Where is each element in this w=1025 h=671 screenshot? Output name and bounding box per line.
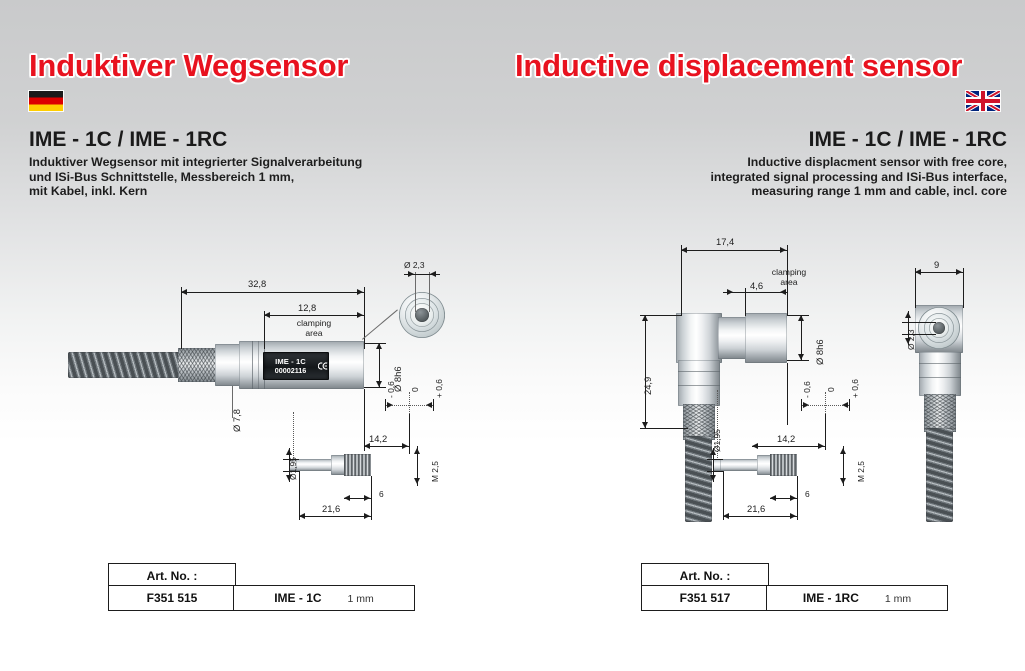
core-center-axis [293,412,294,460]
front-view-bore [415,308,429,322]
dim-clamping-length: 12,8 [298,302,316,313]
rc-dim-total-length: 17,4 [716,236,734,247]
rc-dim-line-216 [723,516,797,517]
rc-clamping-area-label: clampingarea [758,268,820,287]
ce-mark-icon [317,362,328,370]
rc-knurled-sleeve [683,404,715,440]
dim-core-length: 21,6 [322,503,340,514]
sensor-nameplate: IME - 1C 00002116 [263,352,329,380]
sensor-collar [215,344,241,386]
rc-dim-line-174 [681,250,787,251]
range-zero-axis [409,392,410,414]
rc-range-plus-label: + 0,6 [850,379,860,398]
rc-dim-core-offset: 14,2 [777,433,795,444]
cable-strain-relief [68,352,180,378]
headline-german: Induktiver Wegsensor [29,48,348,84]
ext-line-142-left [364,389,365,451]
ext-line-dia-bottom [364,387,386,388]
range-tick-plus [433,399,434,411]
dim-core-diameter: Ø1,95 [288,457,298,480]
table-range-label-de: 1 mm [348,593,374,605]
rc-range-zero-label: 0 [826,387,836,392]
table-cell-type-en[interactable]: IME - 1RC 1 mm [766,585,948,611]
dim-line-128 [264,315,364,316]
range-zero-label: 0 [410,387,420,392]
rc-dim-line-249 [645,315,646,428]
dim-bore-diameter: Ø 2,3 [404,260,424,270]
detail-leader-line [362,309,398,339]
dim-core-thread: M 2,5 [430,461,440,482]
description-english: Inductive displacment sensor with free c… [710,155,1007,199]
rc-range-zero-axis [825,392,826,414]
range-minus-label: - 0,6 [386,381,396,398]
table-type-label-en: IME - 1RC [803,591,859,605]
core-shoulder [331,455,345,475]
nameplate-model: IME - 1C [275,358,306,366]
model-code-english: IME - 1C / IME - 1RC [809,128,1007,152]
side-dim-width: 9 [934,259,939,270]
headline-english: Inductive displacement sensor [515,48,962,84]
ext-line-142-right [409,414,410,454]
housing-groove-2 [258,341,259,389]
rc-groove-1 [678,371,720,372]
side-view-neck [919,352,961,396]
description-german: Induktiver Wegsensor mit integrierter Si… [29,155,362,199]
flag-germany-icon [29,91,63,111]
ext-line-dia-top [364,343,386,344]
range-tick-minus [385,399,386,411]
dim-thread-length: 6 [379,489,384,499]
rc-barrel [745,313,787,363]
side-view-groove-2 [919,377,961,378]
ext-line-328-right [364,287,365,349]
rc-barrel-base [718,317,748,359]
ext-bore-left [415,272,416,312]
side-view-bore [933,322,945,334]
rc-ext-142-left [787,363,788,425]
dim-cable-diameter: Ø 7,8 [231,409,242,432]
core-thread [344,454,371,476]
dim-total-length: 32,8 [248,278,266,289]
dim-line-216 [299,516,371,517]
rc-dim-core-length: 21,6 [747,503,765,514]
ext-bore-right [429,272,430,312]
rc-dim-thread-length: 6 [805,489,810,499]
rc-groove-2 [678,385,720,386]
rc-ext-174-left [681,245,682,315]
side-view-groove-1 [919,363,961,364]
ext-line-328-left [181,287,182,349]
rc-ext-core-dia-top [707,459,723,460]
rc-range-tick-minus [801,399,802,411]
rc-ext-dia-bottom [787,360,809,361]
rc-dim-core-diameter: Ø1,95 [712,429,722,452]
side-ext-9-right [963,268,964,308]
ext-line-216-right [371,476,372,520]
side-view-cable-strain-relief [926,428,953,522]
rc-dim-line-142 [752,446,825,447]
side-view-knurled-sleeve [924,394,956,432]
core-shaft [296,459,332,471]
range-plus-label: + 0,6 [434,379,444,398]
table-range-label-en: 1 mm [885,593,911,605]
dim-line-328 [181,292,364,293]
rc-head-lower [678,360,720,406]
rc-ext-249-bottom [640,428,688,429]
side-dim-bore-diameter: Ø 2,3 [906,330,916,350]
rc-core-shaft [720,459,758,471]
rc-dim-height: 24,9 [642,377,653,395]
rc-cable-strain-relief [685,436,712,522]
dim-core-offset: 14,2 [369,433,387,444]
rc-range-tick-plus [849,399,850,411]
cable-knurled-sleeve [178,348,218,382]
clamping-area-label: clampingarea [281,319,347,338]
rc-head-upper [676,313,722,363]
model-code-german: IME - 1C / IME - 1RC [29,128,227,152]
table-type-label-de: IME - 1C [274,591,321,605]
rc-ext-216-right [797,476,798,520]
rc-dim-body-diameter: Ø 8h6 [814,339,825,365]
nameplate-serial: 00002116 [275,367,307,374]
rc-dim-core-thread: M 2,5 [856,461,866,482]
rc-range-minus-label: - 0,6 [802,381,812,398]
housing-groove-1 [252,341,253,389]
table-cell-art-no-de[interactable]: F351 515 [108,585,236,611]
table-cell-type-de[interactable]: IME - 1C 1 mm [233,585,415,611]
flag-united-kingdom-icon [966,91,1000,111]
rc-core-thread [770,454,797,476]
rc-ext-142-right [825,414,826,450]
rc-core-shoulder [757,455,771,475]
rc-ext-core-dia-bottom [707,471,723,472]
table-cell-art-no-en[interactable]: F351 517 [641,585,769,611]
datasheet-page: Induktiver Wegsensor IME - 1C / IME - 1R… [0,0,1025,671]
